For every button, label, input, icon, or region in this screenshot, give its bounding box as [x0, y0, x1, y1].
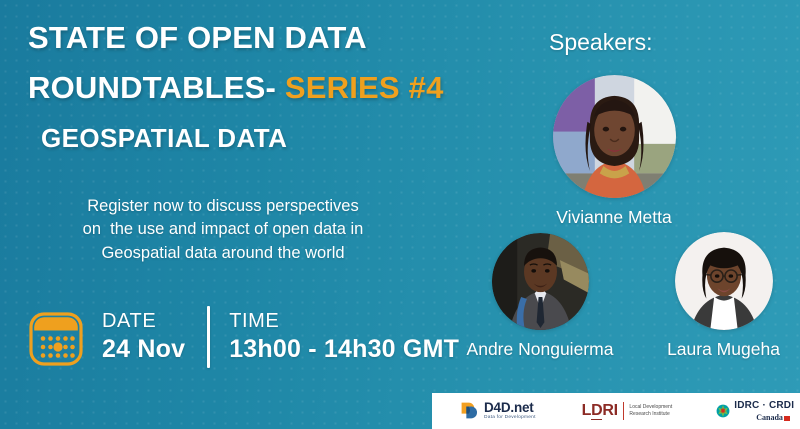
idrc-maple-leaf-icon: [716, 404, 730, 418]
description-block: Register now to discuss perspectives on …: [18, 195, 428, 265]
speaker-name-0: Vivianne Metta: [524, 207, 704, 228]
logo-idrc: IDRC · CRDI Canada: [716, 401, 794, 422]
headline-line-1: STATE OF OPEN DATA: [28, 22, 498, 55]
date-label: DATE: [102, 309, 185, 334]
ldri-subtitle: Local Development Research Institute: [629, 404, 672, 419]
headline-block: STATE OF OPEN DATA ROUNDTABLES- SERIES #…: [28, 22, 498, 152]
time-label: TIME: [229, 309, 459, 334]
description-line-2: on the use and impact of open data in: [18, 218, 428, 241]
speaker-card-0: Vivianne Metta: [524, 75, 704, 228]
description-line-1: Register now to discuss perspectives: [18, 195, 428, 218]
speaker-photo-andre-nonguierma: [492, 233, 589, 330]
time-block: TIME 13h00 - 14h30 GMT: [229, 309, 459, 365]
ldri-name: LDRI: [582, 403, 618, 419]
logo-ldri: LDRI Local Development Research Institut…: [582, 402, 673, 420]
speaker-card-1: Andre Nonguierma: [444, 233, 636, 360]
speakers-title: Speakers:: [549, 29, 653, 56]
canada-flag-icon: [784, 416, 790, 421]
ldri-divider: [623, 402, 625, 420]
time-value: 13h00 - 14h30 GMT: [229, 334, 459, 365]
canada-wordmark-text: Canada: [756, 414, 783, 422]
datetime-divider: [207, 306, 210, 368]
headline-series-accent: SERIES #4: [285, 70, 444, 105]
ldri-subtitle-line-2: Research Institute: [629, 411, 672, 418]
idrc-text-block: IDRC · CRDI Canada: [734, 401, 794, 422]
canada-wordmark: Canada: [756, 414, 794, 422]
ldri-subtitle-line-1: Local Development: [629, 404, 672, 411]
idrc-name: IDRC · CRDI: [734, 401, 794, 411]
d4d-tagline: Data for Development: [484, 416, 536, 421]
event-datetime-block: DATE 24 Nov TIME 13h00 - 14h30 GMT: [28, 306, 459, 368]
date-block: DATE 24 Nov: [102, 309, 185, 365]
logo-d4d: D4D.net Data for Development: [460, 401, 536, 421]
headline-line-3: GEOSPATIAL DATA: [28, 125, 498, 153]
headline-line-2: ROUNDTABLES- SERIES #4: [28, 72, 498, 105]
date-value: 24 Nov: [102, 334, 185, 365]
d4d-name: D4D.net: [484, 401, 536, 415]
speaker-card-2: Laura Mugeha: [651, 232, 796, 360]
speaker-name-1: Andre Nonguierma: [444, 339, 636, 360]
speaker-photo-laura-mugeha: [675, 232, 773, 330]
speaker-photo-vivianne-metta: [553, 75, 676, 198]
speaker-name-2: Laura Mugeha: [651, 339, 796, 360]
d4d-text-block: D4D.net Data for Development: [484, 401, 536, 421]
calendar-icon: [28, 311, 84, 367]
d4d-logo-icon: [460, 401, 479, 420]
headline-line-2-main: ROUNDTABLES-: [28, 70, 285, 105]
footer-logo-bar: D4D.net Data for Development LDRI Local …: [432, 393, 800, 429]
event-poster: STATE OF OPEN DATA ROUNDTABLES- SERIES #…: [0, 0, 800, 429]
description-line-3: Geospatial data around the world: [18, 242, 428, 265]
